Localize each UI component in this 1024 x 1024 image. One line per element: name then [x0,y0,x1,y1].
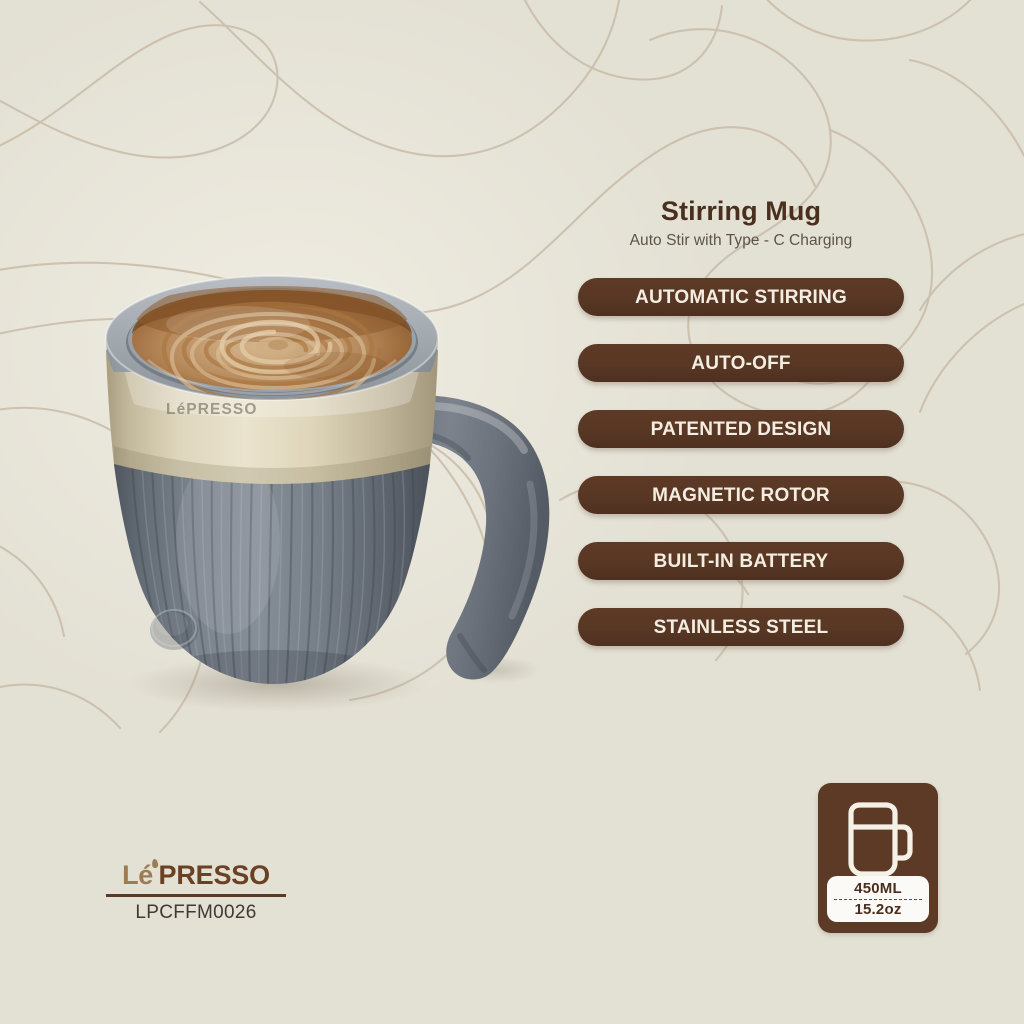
feature-label: PATENTED DESIGN [651,420,832,439]
page-title: Stirring Mug [578,196,904,227]
feature-list: AUTOMATIC STIRRING AUTO-OFF PATENTED DES… [578,278,904,674]
feature-pill-built-in-battery: BUILT-IN BATTERY [578,542,904,580]
feature-pill-patented-design: PATENTED DESIGN [578,410,904,448]
feature-pill-magnetic-rotor: MAGNETIC ROTOR [578,476,904,514]
mug-body-ribbed [114,450,430,698]
brand-logo: Lé PRESSO [106,862,286,889]
feature-label: BUILT-IN BATTERY [654,552,829,571]
feature-label: AUTO-OFF [691,354,790,373]
capacity-badge: 450ML 15.2oz [818,783,938,933]
capacity-chip: 450ML 15.2oz [827,876,929,922]
feature-pill-automatic-stirring: AUTOMATIC STIRRING [578,278,904,316]
brand-logo-le: Lé [122,862,153,889]
brand-block: Lé PRESSO LPCFFM0026 [106,862,286,922]
mug-icon [841,797,915,888]
capacity-separator [834,899,922,900]
product-subtitle: Auto Stir with Type - C Charging [578,232,904,251]
feature-pill-stainless-steel: STAINLESS STEEL [578,608,904,646]
product-marketing-image: LéPRESSO [0,0,1024,1024]
brand-divider [106,894,286,897]
mug-embossed-logo: LéPRESSO [166,401,258,418]
capacity-oz: 15.2oz [854,902,901,917]
product-image-stirring-mug: LéPRESSO [78,232,578,702]
capacity-ml: 450ML [854,881,902,896]
product-sku: LPCFFM0026 [106,903,286,922]
brand-logo-presso: PRESSO [159,862,270,889]
feature-label: AUTOMATIC STIRRING [635,288,847,307]
feature-pill-auto-off: AUTO-OFF [578,344,904,382]
feature-label: STAINLESS STEEL [654,618,829,637]
product-header: Stirring Mug Auto Stir with Type - C Cha… [578,196,904,251]
feature-label: MAGNETIC ROTOR [652,486,830,505]
power-button [150,610,198,650]
